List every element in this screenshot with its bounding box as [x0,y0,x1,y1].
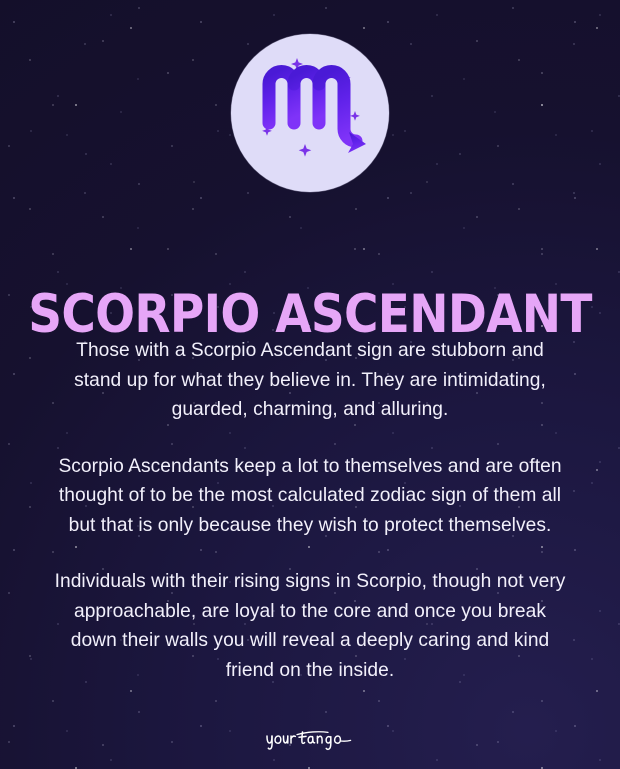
footer: yourtango [0,726,620,752]
emblem-container [0,34,620,192]
yourtango-logo: yourtango [262,726,358,752]
page-title: SCORPIO ASCENDANT [5,288,616,341]
description-body: Those with a Scorpio Ascendant sign are … [50,336,570,685]
paragraph-3: Individuals with their rising signs in S… [50,567,570,685]
paragraph-1: Those with a Scorpio Ascendant sign are … [50,336,570,425]
scorpio-strokes [269,72,356,142]
zodiac-poster: SCORPIO ASCENDANT Those with a Scorpio A… [0,0,620,769]
paragraph-2: Scorpio Ascendants keep a lot to themsel… [50,452,570,541]
emblem-disc [231,34,389,192]
scorpio-zodiac-glyph-icon [231,34,389,192]
